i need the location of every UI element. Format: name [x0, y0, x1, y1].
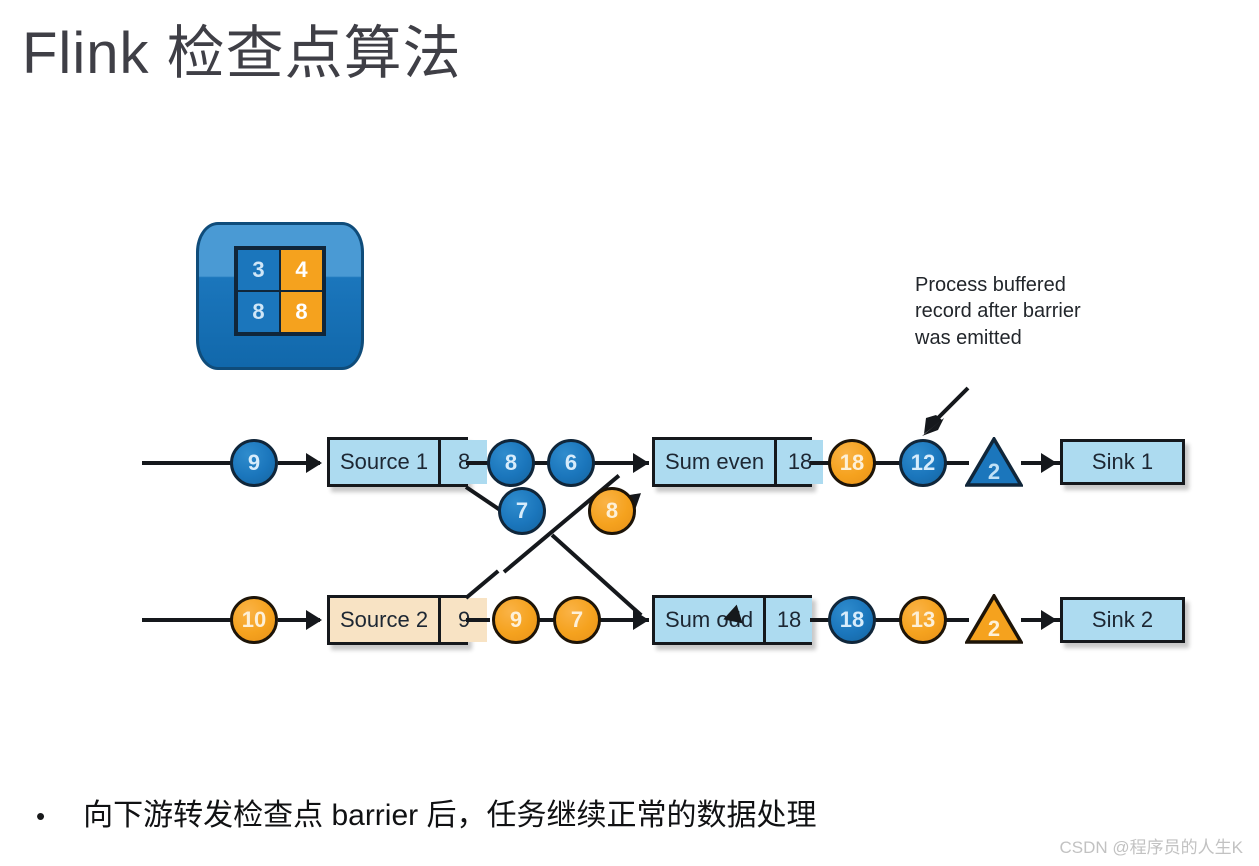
arrowhead-bottom-sink [1041, 610, 1057, 630]
annotation-line: was emitted [915, 325, 1125, 351]
operator-source-2: Source 2 9 [327, 595, 468, 645]
record-top-post-2: 12 [899, 439, 947, 487]
checkpoint-barrier-top: 2 [965, 437, 1023, 487]
bullet-text: 向下游转发检查点 barrier 后，任务继续正常的数据处理 [83, 790, 816, 834]
record-top-input: 9 [230, 439, 278, 487]
wire-bottom-inlet [142, 618, 232, 622]
record-top-post-1: 18 [828, 439, 876, 487]
annotation-line: Process buffered [915, 272, 1125, 298]
bullet-marker: • [36, 803, 45, 829]
wire-bottom-post1-post2 [874, 618, 902, 622]
arrowhead-bottom-source [306, 610, 322, 630]
record-bottom-post-1: 18 [828, 596, 876, 644]
state-cell: 3 [237, 249, 280, 291]
operator-sum-even: Sum even 18 [652, 437, 812, 487]
source-2-label: Source 2 [330, 598, 438, 642]
record-bottom-out-1: 9 [492, 596, 540, 644]
record-top-out-2: 6 [547, 439, 595, 487]
record-bottom-out-2: 7 [553, 596, 601, 644]
sum-odd-label: Sum odd [655, 598, 763, 642]
sink-2-label: Sink 2 [1063, 600, 1182, 640]
state-backend-cylinder-icon: 3 4 8 8 [196, 222, 364, 370]
source-1-label: Source 1 [330, 440, 438, 484]
edge-source2-to-cross [465, 569, 500, 599]
operator-sink-2: Sink 2 [1060, 597, 1185, 643]
wire-source2-out [466, 618, 490, 622]
csdn-watermark: CSDN @程序员的人生K [1060, 833, 1244, 858]
record-cross-blue: 7 [498, 487, 546, 535]
state-cell: 4 [280, 249, 323, 291]
operator-sink-1: Sink 1 [1060, 439, 1185, 485]
arrowhead-top-sink [1041, 453, 1057, 473]
annotation-line: record after barrier [915, 298, 1125, 324]
sum-odd-value: 18 [763, 598, 812, 642]
wire-top-inlet [142, 461, 232, 465]
record-bottom-input: 10 [230, 596, 278, 644]
state-grid: 3 4 8 8 [234, 246, 326, 336]
bullet-row: • 向下游转发检查点 barrier 后，任务继续正常的数据处理 [36, 790, 816, 834]
barrier-top-id: 2 [965, 459, 1023, 485]
record-bottom-post-2: 13 [899, 596, 947, 644]
state-cell: 8 [280, 291, 323, 333]
operator-source-1: Source 1 8 [327, 437, 468, 487]
record-cross-orange: 8 [588, 487, 636, 535]
flink-checkpoint-diagram: 3 4 8 8 9 Source 1 8 8 6 Sum even 18 18 … [0, 0, 1259, 866]
state-cell: 8 [237, 291, 280, 333]
checkpoint-barrier-bottom: 2 [965, 594, 1023, 644]
sink-1-label: Sink 1 [1063, 442, 1182, 482]
barrier-bottom-id: 2 [965, 616, 1023, 642]
wire-top-post1-post2 [874, 461, 902, 465]
arrowhead-bottom-sumodd [633, 610, 649, 630]
annotation-arrow-icon [912, 384, 982, 439]
record-top-out-1: 8 [487, 439, 535, 487]
annotation-callout: Process buffered record after barrier wa… [915, 272, 1125, 351]
arrowhead-top-source [306, 453, 322, 473]
sum-even-label: Sum even [655, 440, 774, 484]
arrowhead-top-sumeven [633, 453, 649, 473]
